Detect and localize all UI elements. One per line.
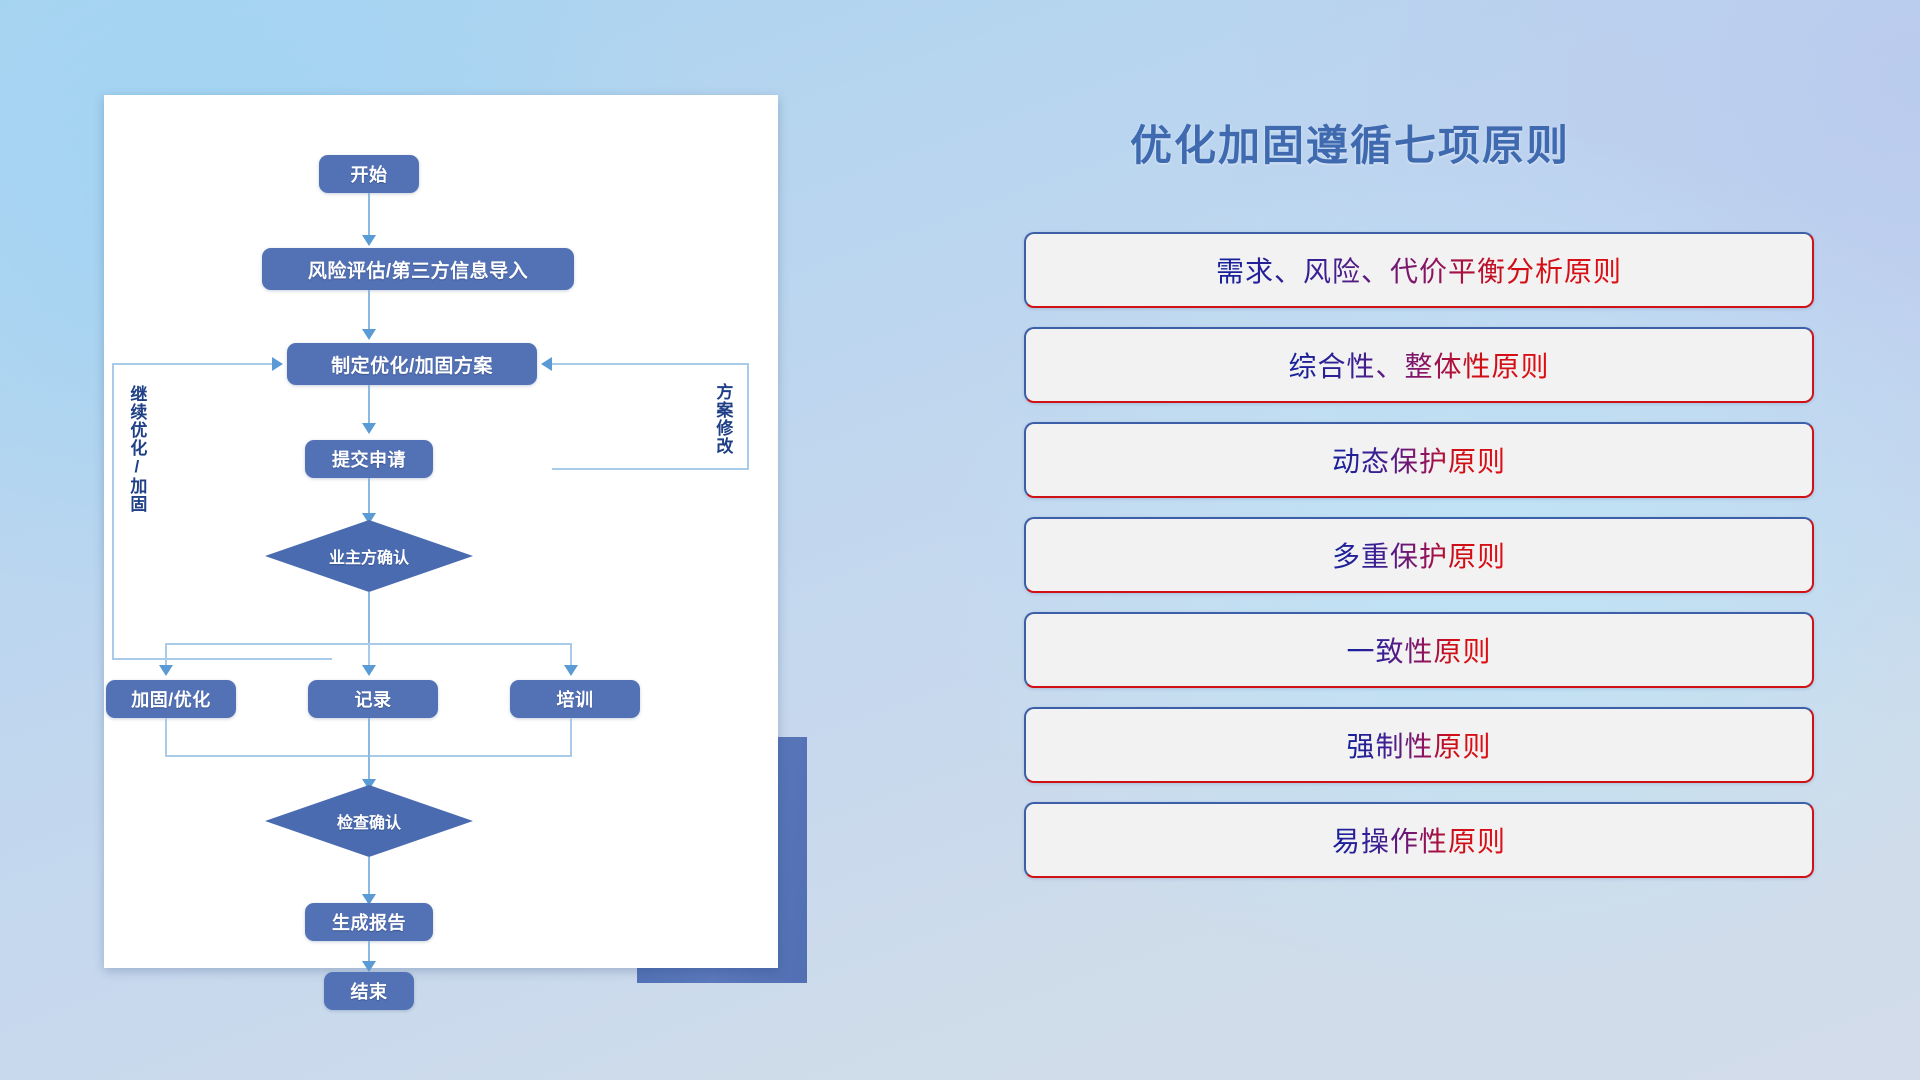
principles-panel: 优化加固遵循七项原则 需求、风险、代价平衡分析原则 综合性、整体性原则 动态保护…	[940, 0, 1920, 1080]
flowchart-panel: 开始 风险评估/第三方信息导入 制定优化/加固方案 继续优化/加固 方案修改	[0, 0, 940, 1080]
flowchart-card: 开始 风险评估/第三方信息导入 制定优化/加固方案 继续优化/加固 方案修改	[104, 95, 778, 968]
principle-card-6[interactable]: 强制性原则	[1024, 707, 1814, 783]
connector-loop-left-vertical	[112, 363, 114, 660]
flow-node-training[interactable]: 培训	[510, 680, 640, 718]
arrowhead-to-end	[362, 961, 376, 972]
principle-label: 多重保护原则	[1332, 535, 1506, 575]
connector-reinforce-down	[165, 718, 167, 757]
arrowhead-to-record	[362, 665, 376, 676]
principle-card-4[interactable]: 多重保护原则	[1024, 517, 1814, 593]
principle-label: 一致性原则	[1346, 630, 1491, 670]
connector-loop-left-horizontal	[112, 363, 275, 365]
connector-assess-to-plan	[368, 290, 370, 334]
principle-label: 动态保护原则	[1332, 440, 1506, 480]
connector-loop-left-bottom	[112, 658, 332, 660]
connector-start-to-assess	[368, 193, 370, 241]
connector-loop-right-vertical	[747, 363, 749, 470]
edge-label-plan-revision: 方案修改	[714, 383, 731, 455]
flow-node-make-plan[interactable]: 制定优化/加固方案	[287, 343, 537, 385]
arrowhead-to-submit	[362, 423, 376, 434]
principle-card-2[interactable]: 综合性、整体性原则	[1024, 327, 1814, 403]
principle-card-1[interactable]: 需求、风险、代价平衡分析原则	[1024, 232, 1814, 308]
page-title: 优化加固遵循七项原则	[1130, 112, 1570, 173]
connector-plan-to-submit	[368, 385, 370, 428]
arrowhead-loop-right	[541, 357, 552, 371]
connector-loop-right-bottom	[552, 468, 749, 470]
arrowhead-to-plan	[362, 329, 376, 340]
flow-node-end[interactable]: 结束	[324, 972, 414, 1010]
principle-label: 综合性、整体性原则	[1288, 345, 1549, 385]
principle-label: 易操作性原则	[1332, 820, 1506, 860]
connector-loop-right-horizontal	[552, 363, 749, 365]
flow-node-start[interactable]: 开始	[319, 155, 419, 193]
principle-label: 强制性原则	[1346, 725, 1491, 765]
arrowhead-loop-left	[272, 357, 283, 371]
arrowhead-to-reinforce	[159, 665, 173, 676]
flow-decision-inspection-confirm[interactable]: 检查确认	[265, 785, 473, 857]
connector-training-down	[570, 718, 572, 757]
connector-check-to-report	[368, 857, 370, 899]
principle-card-7[interactable]: 易操作性原则	[1024, 802, 1814, 878]
principle-label: 需求、风险、代价平衡分析原则	[1216, 250, 1622, 290]
connector-owner-to-branch	[368, 592, 370, 644]
slide-canvas: 开始 风险评估/第三方信息导入 制定优化/加固方案 继续优化/加固 方案修改	[0, 0, 1920, 1080]
flow-node-risk-assessment[interactable]: 风险评估/第三方信息导入	[262, 248, 574, 290]
flow-node-generate-report[interactable]: 生成报告	[305, 903, 433, 941]
principles-list: 需求、风险、代价平衡分析原则 综合性、整体性原则 动态保护原则 多重保护原则 一…	[1024, 232, 1814, 897]
flow-node-submit-application[interactable]: 提交申请	[305, 440, 433, 478]
principle-card-5[interactable]: 一致性原则	[1024, 612, 1814, 688]
flow-node-reinforce-optimize[interactable]: 加固/优化	[106, 680, 236, 718]
arrowhead-to-training	[564, 665, 578, 676]
principle-card-3[interactable]: 动态保护原则	[1024, 422, 1814, 498]
arrowhead-to-assess	[362, 235, 376, 246]
flow-node-record[interactable]: 记录	[308, 680, 438, 718]
flow-decision-owner-confirm[interactable]: 业主方确认	[265, 520, 473, 592]
connector-merge-to-check	[368, 718, 370, 784]
edge-label-continue-optimize: 继续优化/加固	[128, 385, 145, 513]
